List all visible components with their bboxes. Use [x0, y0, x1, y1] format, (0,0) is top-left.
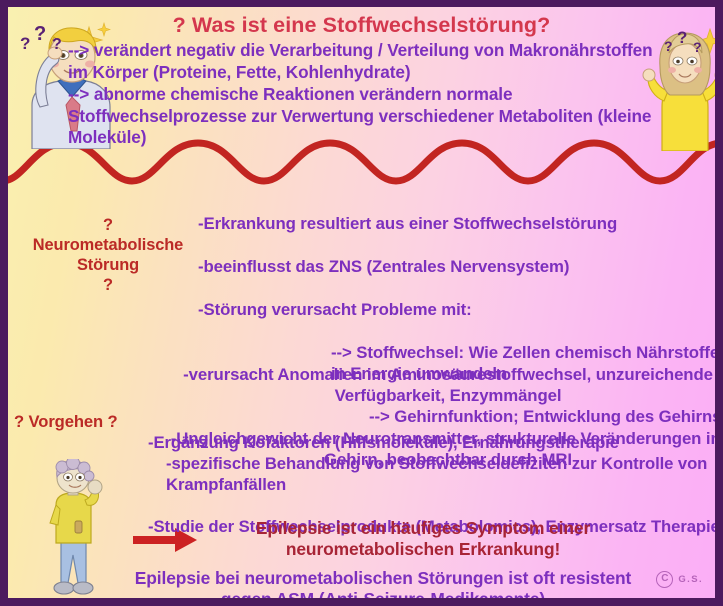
bullet-item: -Störung verursacht Probleme mit:: [198, 299, 715, 321]
illustration-standing-child: [28, 459, 132, 598]
bullet-item: -Ergänzung Kofaktoren (Hilfsmoleküle), E…: [148, 433, 619, 452]
bullet-item: -spezifische Behandlung von Stoffwechsel…: [148, 453, 715, 495]
poster-canvas: ? ? ?: [8, 7, 715, 598]
copyright-initials: G.S.: [678, 574, 703, 585]
poster-root: ? ? ?: [0, 0, 723, 606]
bullet-item: -Erkrankung resultiert aus einer Stoffwe…: [198, 213, 715, 235]
label-vorgehen: ? Vorgehen ?: [14, 413, 154, 432]
copyright-icon: C: [656, 571, 673, 588]
intro-paragraph: --> verändert negativ die Verarbeitung /…: [68, 40, 668, 149]
page-title: ? Was ist eine Stoffwechselstörung?: [8, 13, 715, 37]
highlight-statement: Epilepsie ist ein häufiges Symptom einer…: [188, 518, 658, 560]
bullet-item: -beeinflusst das ZNS (Zentrales Nervensy…: [198, 256, 715, 278]
label-neurometabolic-disorder: ? Neurometabolische Störung ?: [10, 215, 206, 295]
copyright-notice: C G.S.: [656, 571, 703, 588]
closing-statement: Epilepsie bei neurometabolischen Störung…: [128, 568, 638, 598]
bullet-item: -verursacht Anomalien im Aminosäurestoff…: [168, 364, 715, 406]
